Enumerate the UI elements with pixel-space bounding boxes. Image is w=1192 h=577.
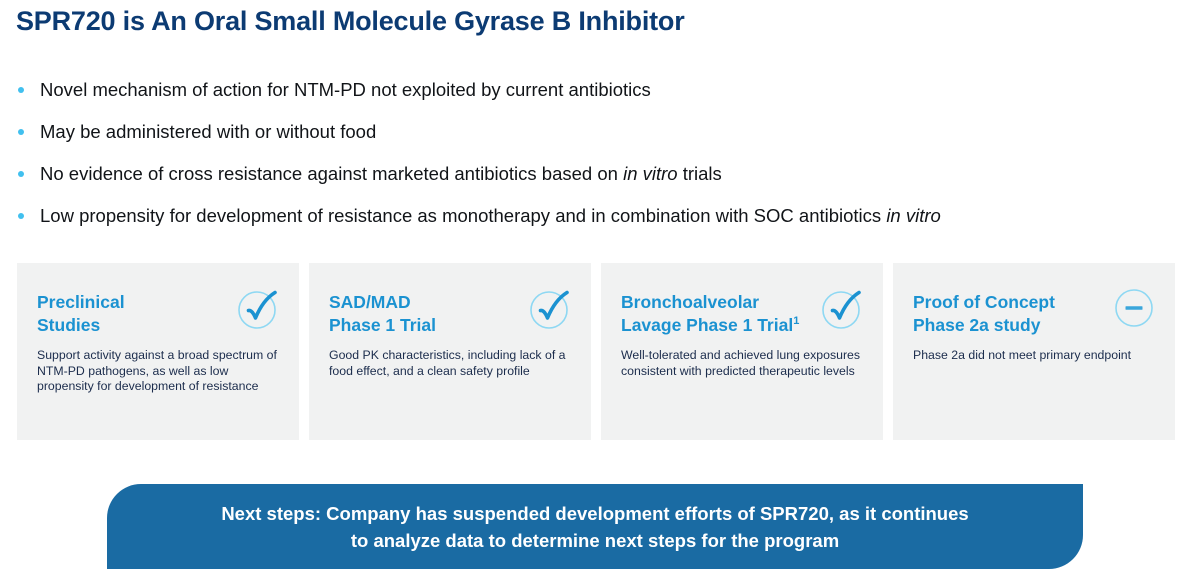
list-item: No evidence of cross resistance against … (8, 162, 1188, 204)
bullet-text: Low propensity for development of resist… (40, 204, 941, 228)
bullet-text: No evidence of cross resistance against … (40, 162, 722, 186)
card-heading: Preclinical Studies (37, 291, 252, 337)
list-item: Low propensity for development of resist… (8, 204, 1188, 246)
bullet-text: Novel mechanism of action for NTM-PD not… (40, 78, 651, 102)
milestone-card-preclinical-studies: Preclinical Studies Support activity aga… (17, 263, 299, 440)
card-heading: Bronchoalveolar Lavage Phase 1 Trial1 (621, 291, 836, 337)
bullet-dot-icon (16, 171, 26, 177)
bullet-dot-icon (16, 87, 26, 93)
footnote-marker: 1 (793, 315, 799, 327)
card-body: Support activity against a broad spectru… (37, 348, 281, 395)
page-title: SPR720 is An Oral Small Molecule Gyrase … (16, 6, 685, 37)
card-body: Good PK characteristics, including lack … (329, 348, 573, 379)
list-item: May be administered with or without food (8, 120, 1188, 162)
card-body: Phase 2a did not meet primary endpoint (913, 348, 1157, 364)
card-body: Well-tolerated and achieved lung exposur… (621, 348, 865, 379)
milestone-card-bronchoalveolar-lavage-phase-1: Bronchoalveolar Lavage Phase 1 Trial1 We… (601, 263, 883, 440)
next-steps-banner-text: Next steps: Company has suspended develo… (221, 500, 968, 554)
card-heading: SAD/MAD Phase 1 Trial (329, 291, 544, 337)
card-heading: Proof of Concept Phase 2a study (913, 291, 1128, 337)
bullet-list: Novel mechanism of action for NTM-PD not… (8, 78, 1188, 246)
milestone-card-proof-of-concept-phase-2a: Proof of Concept Phase 2a study Phase 2a… (893, 263, 1175, 440)
milestone-card-strip: Preclinical Studies Support activity aga… (17, 263, 1175, 440)
bullet-dot-icon (16, 213, 26, 219)
list-item: Novel mechanism of action for NTM-PD not… (8, 78, 1188, 120)
milestone-card-sad-mad-phase-1: SAD/MAD Phase 1 Trial Good PK characteri… (309, 263, 591, 440)
bullet-text: May be administered with or without food (40, 120, 376, 144)
bullet-dot-icon (16, 129, 26, 135)
next-steps-banner: Next steps: Company has suspended develo… (107, 484, 1083, 569)
